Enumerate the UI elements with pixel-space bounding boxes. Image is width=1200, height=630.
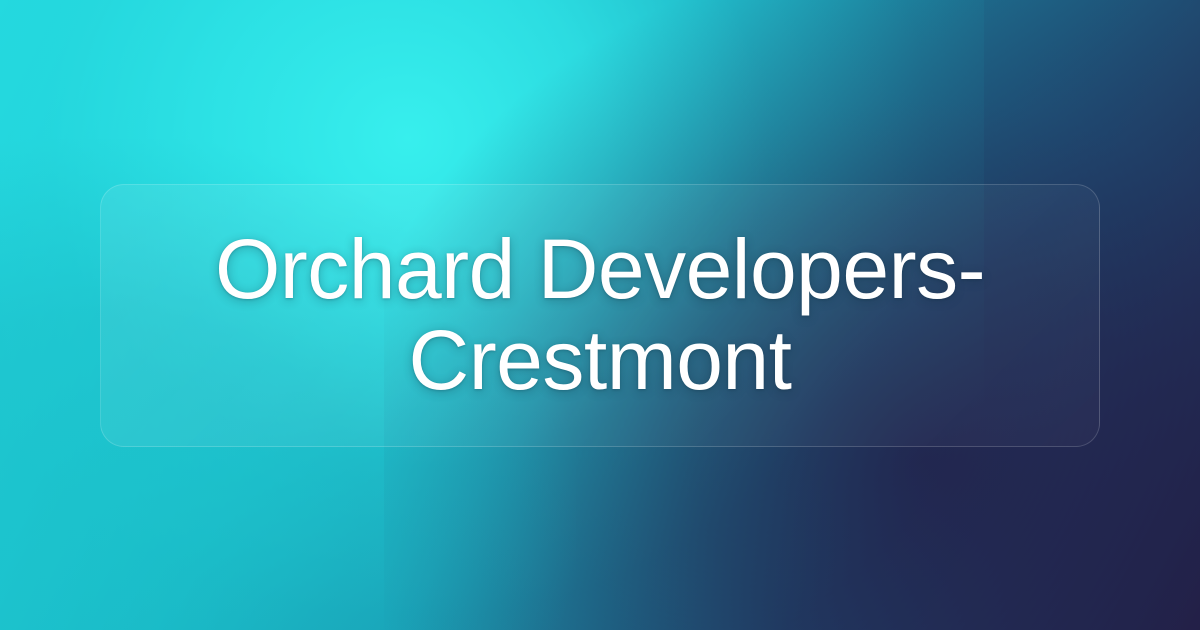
page-title: Orchard Developers-Crestmont — [157, 224, 1043, 405]
title-card: Orchard Developers-Crestmont — [100, 184, 1100, 447]
banner-stage: Orchard Developers-Crestmont — [0, 0, 1200, 630]
